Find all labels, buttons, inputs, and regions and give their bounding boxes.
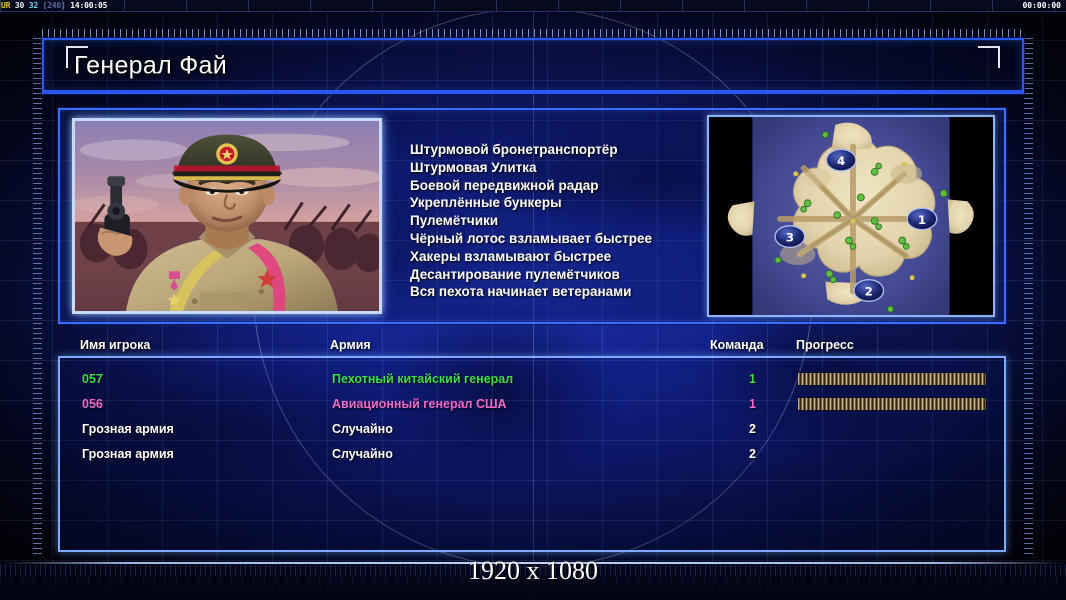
header-player-name: Имя игрока <box>80 338 150 352</box>
progress-bar <box>798 398 986 410</box>
cell-team: 2 <box>720 447 756 461</box>
cell-team: 2 <box>720 422 756 436</box>
table-row[interactable]: Грозная армияСлучайно2 <box>60 441 1004 466</box>
hud-strip: UR 30 32 [240] 14:00:05 00:00:00 <box>0 0 1066 12</box>
ruler-left <box>33 38 42 554</box>
hud-stat-1: UR <box>1 1 10 10</box>
cell-player-name: Грозная армия <box>82 447 174 461</box>
title-panel: Генерал Фай <box>42 38 1024 94</box>
svg-text:4: 4 <box>837 154 845 168</box>
cell-progress <box>798 398 986 410</box>
cell-team: 1 <box>720 397 756 411</box>
hud-stats: UR 30 32 [240] 14:00:05 <box>1 0 107 12</box>
cell-player-name: 057 <box>82 372 103 386</box>
page-title: Генерал Фай <box>74 52 227 81</box>
title-divider <box>44 90 1022 92</box>
header-team: Команда <box>710 338 764 352</box>
cell-army: Авиационный генерал США <box>332 397 507 411</box>
ruler-top <box>42 29 1024 38</box>
minimap-start-2: 2 <box>854 280 884 302</box>
ability-line: Десантирование пулемётчиков <box>410 266 652 284</box>
minimap-start-4: 4 <box>826 149 856 171</box>
minimap[interactable]: 1 2 3 4 <box>707 115 995 317</box>
svg-text:2: 2 <box>865 284 873 298</box>
svg-text:1: 1 <box>918 213 926 227</box>
resolution-label: 1920 x 1080 <box>0 556 1066 586</box>
cell-progress <box>798 373 986 385</box>
ability-line: Вся пехота начинает ветеранами <box>410 283 652 301</box>
minimap-start-3: 3 <box>775 226 805 248</box>
table-row[interactable]: Грозная армияСлучайно2 <box>60 416 1004 441</box>
header-progress: Прогресс <box>796 338 854 352</box>
cell-army: Случайно <box>332 447 393 461</box>
hud-stat-2: 30 <box>15 1 24 10</box>
ability-line: Укреплённые бункеры <box>410 194 652 212</box>
hud-stat-4: [240] <box>43 1 66 10</box>
general-portrait-image <box>75 121 379 311</box>
cell-army: Случайно <box>332 422 393 436</box>
ability-line: Чёрный лотос взламывает быстрее <box>410 230 652 248</box>
table-row[interactable]: 057Пехотный китайский генерал1 <box>60 366 1004 391</box>
ability-line: Штурмовой бронетранспортёр <box>410 141 652 159</box>
cell-player-name: Грозная армия <box>82 422 174 436</box>
hud-stat-3: 32 <box>29 1 38 10</box>
ruler-right <box>1024 38 1033 554</box>
ability-line: Пулемётчики <box>410 212 652 230</box>
player-table-header: Имя игрока Армия Команда Прогресс <box>58 338 1006 356</box>
app-root: UR 30 32 [240] 14:00:05 00:00:00 Генерал… <box>0 0 1066 600</box>
cell-team: 1 <box>720 372 756 386</box>
cell-player-name: 056 <box>82 397 103 411</box>
progress-bar <box>798 373 986 385</box>
player-table-panel: 057Пехотный китайский генерал1056Авиацио… <box>58 356 1006 552</box>
minimap-image: 1 2 3 4 <box>709 117 993 315</box>
ability-line: Хакеры взламывают быстрее <box>410 248 652 266</box>
header-army: Армия <box>330 338 371 352</box>
svg-text:3: 3 <box>786 231 794 245</box>
ability-line: Штурмовая Улитка <box>410 159 652 177</box>
general-info-panel: Штурмовой бронетранспортёрШтурмовая Улит… <box>58 108 1006 324</box>
minimap-start-1: 1 <box>907 208 937 230</box>
cell-army: Пехотный китайский генерал <box>332 372 513 386</box>
hud-timer: 00:00:00 <box>1022 0 1061 12</box>
general-abilities-list: Штурмовой бронетранспортёрШтурмовая Улит… <box>410 141 652 301</box>
ability-line: Боевой передвижной радар <box>410 177 652 195</box>
hud-stat-5: 14:00:05 <box>70 1 107 10</box>
general-portrait <box>72 118 382 314</box>
hud-grid <box>0 0 1066 11</box>
table-row[interactable]: 056Авиационный генерал США1 <box>60 391 1004 416</box>
